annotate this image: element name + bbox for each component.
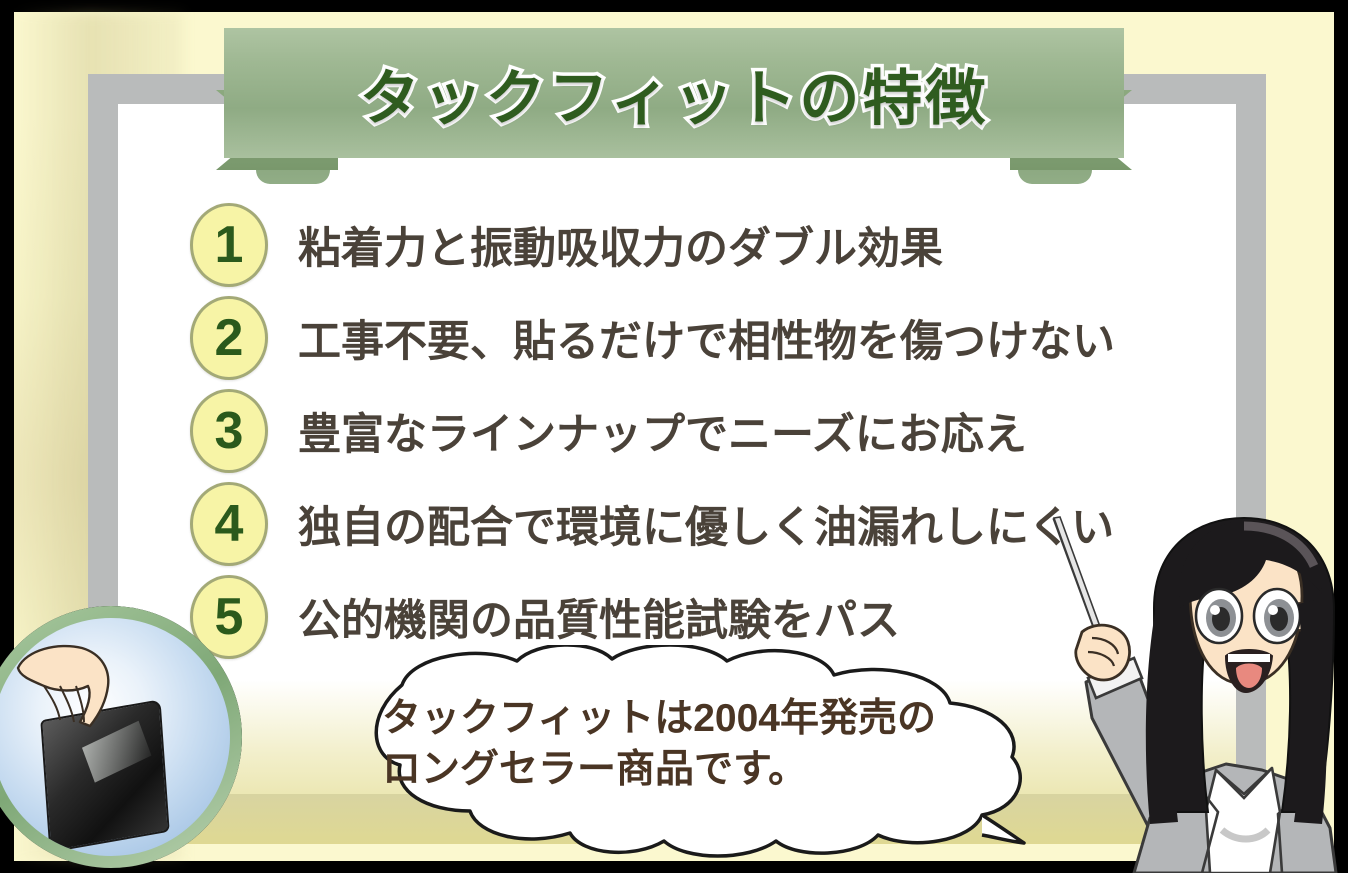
poster-canvas: タックフィットの特徴 1 粘着力と振動吸収力のダブル効果 2 工事不要、貼るだけ…	[0, 0, 1348, 873]
feature-item: 3 豊富なラインナップでニーズにお応え	[190, 384, 1210, 477]
feature-number-badge: 3	[190, 389, 268, 473]
page-title: タックフィットの特徴	[224, 28, 1124, 158]
speech-bubble-text: タックフィットは2004年発売の ロングセラー商品です。	[382, 693, 1022, 796]
eye-left	[1196, 589, 1242, 643]
feature-number-badge: 4	[190, 482, 268, 566]
feature-number-badge: 1	[190, 203, 268, 287]
gripping-hand	[1076, 625, 1130, 680]
feature-label: 豊富なラインナップでニーズにお応え	[298, 400, 1027, 462]
feature-label: 粘着力と振動吸収力のダブル効果	[298, 214, 943, 276]
feature-number-badge: 2	[190, 296, 268, 380]
speech-bubble-line-1: タックフィットは2004年発売の	[382, 693, 1022, 744]
speech-bubble-line-2: ロングセラー商品です。	[382, 744, 1022, 795]
eye-right	[1254, 589, 1300, 643]
presenter-character	[1030, 512, 1348, 873]
feature-label: 公的機関の品質性能試験をパス	[298, 586, 900, 648]
feature-label: 独自の配合で環境に優しく油漏れしにくい	[298, 493, 1114, 555]
feature-item: 1 粘着力と振動吸収力のダブル効果	[190, 198, 1210, 291]
title-ribbon: タックフィットの特徴	[0, 18, 1348, 188]
teeth	[1228, 654, 1270, 662]
feature-item: 2 工事不要、貼るだけで相性物を傷つけない	[190, 291, 1210, 384]
speech-bubble: タックフィットは2004年発売の ロングセラー商品です。	[282, 645, 1072, 860]
feature-label: 工事不要、貼るだけで相性物を傷つけない	[298, 307, 1115, 369]
inset-photo	[0, 618, 230, 856]
hand-icon	[14, 642, 134, 747]
